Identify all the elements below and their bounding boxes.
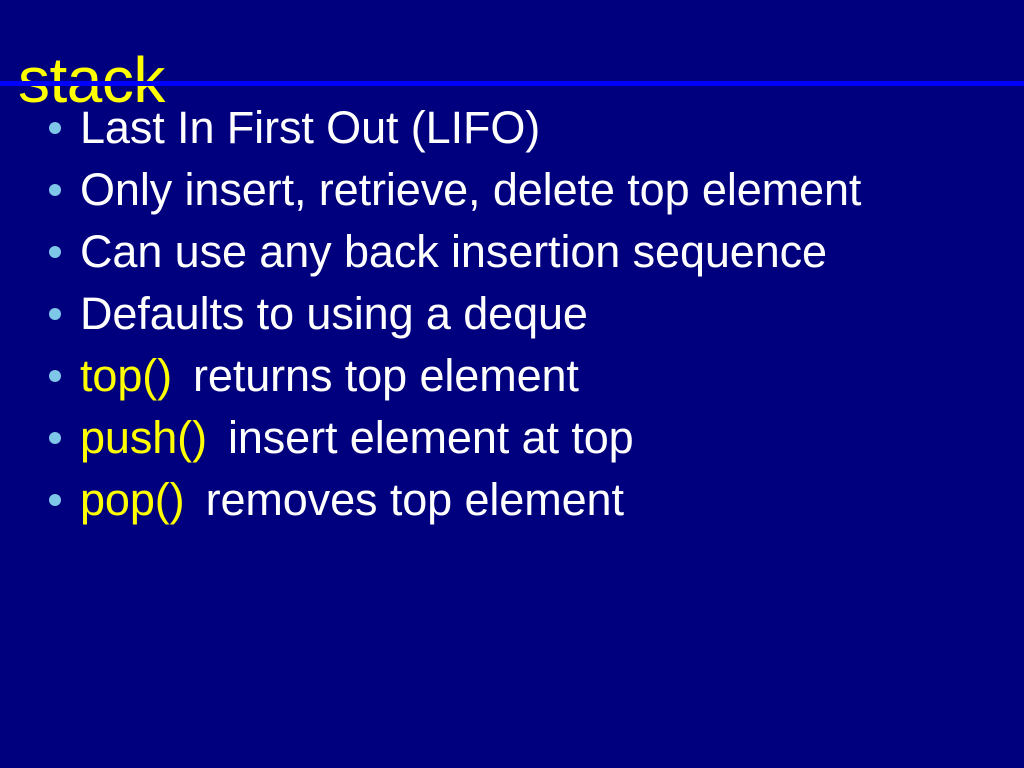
- bullet-dot-icon: [49, 184, 61, 196]
- bullet-content: Last In First Out (LIFO): [80, 97, 540, 159]
- bullet-dot-icon: [49, 122, 61, 134]
- code-token: pop(): [80, 474, 185, 525]
- bullet-content: push()insert element at top: [80, 407, 634, 469]
- list-item: pop()removes top element: [0, 469, 1024, 531]
- bullet-list: Last In First Out (LIFO) Only insert, re…: [0, 97, 1024, 531]
- bullet-label: Last In First Out (LIFO): [80, 102, 540, 153]
- title-divider: [0, 81, 1024, 86]
- list-item: Last In First Out (LIFO): [0, 97, 1024, 159]
- bullet-dot-icon: [49, 246, 61, 258]
- bullet-label: insert element at top: [228, 412, 634, 463]
- bullet-content: top()returns top element: [80, 345, 579, 407]
- code-token: top(): [80, 350, 172, 401]
- list-item: top()returns top element: [0, 345, 1024, 407]
- bullet-dot-icon: [49, 494, 61, 506]
- presentation-slide: stack Last In First Out (LIFO) Only inse…: [0, 0, 1024, 768]
- bullet-label: Can use any back insertion sequence: [80, 226, 827, 277]
- bullet-label: Defaults to using a deque: [80, 288, 588, 339]
- list-item: Can use any back insertion sequence: [0, 221, 1024, 283]
- bullet-content: Defaults to using a deque: [80, 283, 588, 345]
- list-item: push()insert element at top: [0, 407, 1024, 469]
- bullet-dot-icon: [49, 432, 61, 444]
- bullet-label: returns top element: [193, 350, 579, 401]
- bullet-content: Can use any back insertion sequence: [80, 221, 827, 283]
- bullet-label: removes top element: [206, 474, 624, 525]
- bullet-dot-icon: [49, 308, 61, 320]
- bullet-dot-icon: [49, 370, 61, 382]
- list-item: Defaults to using a deque: [0, 283, 1024, 345]
- bullet-content: pop()removes top element: [80, 469, 624, 531]
- bullet-content: Only insert, retrieve, delete top elemen…: [80, 159, 861, 221]
- code-token: push(): [80, 412, 207, 463]
- list-item: Only insert, retrieve, delete top elemen…: [0, 159, 1024, 221]
- bullet-label: Only insert, retrieve, delete top elemen…: [80, 164, 861, 215]
